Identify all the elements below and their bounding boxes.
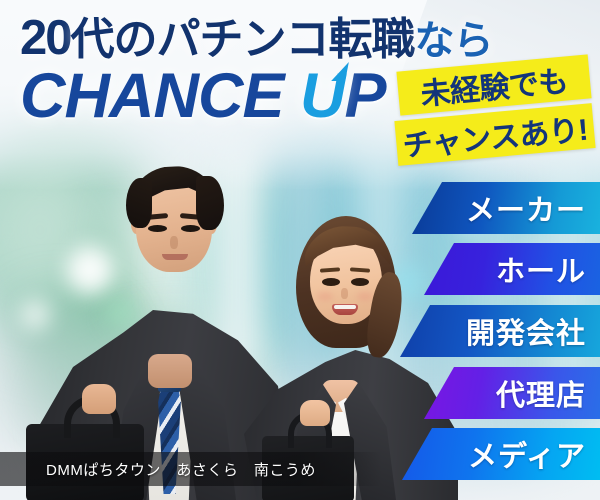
category-button-development-company[interactable]: 開発会社 [400, 305, 600, 357]
category-label: ホール [496, 248, 586, 290]
caption-credit-text: DMMぱちタウン あさくら 南こうめ [46, 459, 316, 480]
category-button-maker[interactable]: メーカー [412, 182, 600, 234]
recruitment-banner[interactable]: 20代のパチンコ転職なら CHANCE UP 未経験でも チャンスあり! メーカ… [0, 0, 600, 500]
category-label: メーカー [466, 187, 586, 229]
category-label: 開発会社 [466, 310, 586, 352]
caption-bar: DMMぱちタウン あさくら 南こうめ [0, 452, 382, 486]
category-label: 代理店 [496, 372, 586, 414]
category-button-agency[interactable]: 代理店 [424, 367, 600, 419]
category-label: メディア [468, 433, 586, 475]
category-button-hall[interactable]: ホール [424, 243, 600, 295]
category-button-media[interactable]: メディア [402, 428, 600, 480]
